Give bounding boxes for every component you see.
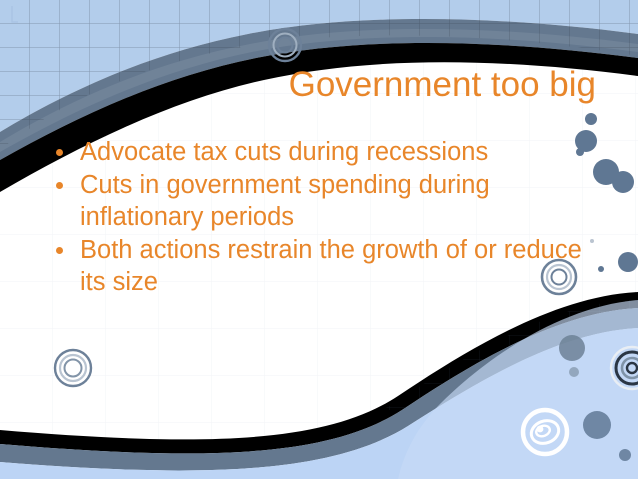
bullet-dot-icon bbox=[56, 149, 63, 156]
bullet-item-2: Cuts in government spending during infla… bbox=[44, 169, 604, 233]
bullet-dot-icon bbox=[56, 247, 63, 254]
presentation-slide: Government too big Advocate tax cuts dur… bbox=[0, 0, 638, 479]
bullet-dot-icon bbox=[56, 182, 63, 189]
bullet-text: Cuts in government spending during infla… bbox=[80, 169, 604, 233]
bullet-list: Advocate tax cuts during recessions Cuts… bbox=[44, 136, 604, 299]
slide-content: Government too big Advocate tax cuts dur… bbox=[0, 0, 638, 479]
bullet-item-3: Both actions restrain the growth of or r… bbox=[44, 234, 604, 298]
slide-title: Government too big bbox=[40, 64, 596, 106]
bullet-text: Advocate tax cuts during recessions bbox=[80, 136, 604, 168]
bullet-text: Both actions restrain the growth of or r… bbox=[80, 234, 604, 298]
bullet-item-1: Advocate tax cuts during recessions bbox=[44, 136, 604, 168]
